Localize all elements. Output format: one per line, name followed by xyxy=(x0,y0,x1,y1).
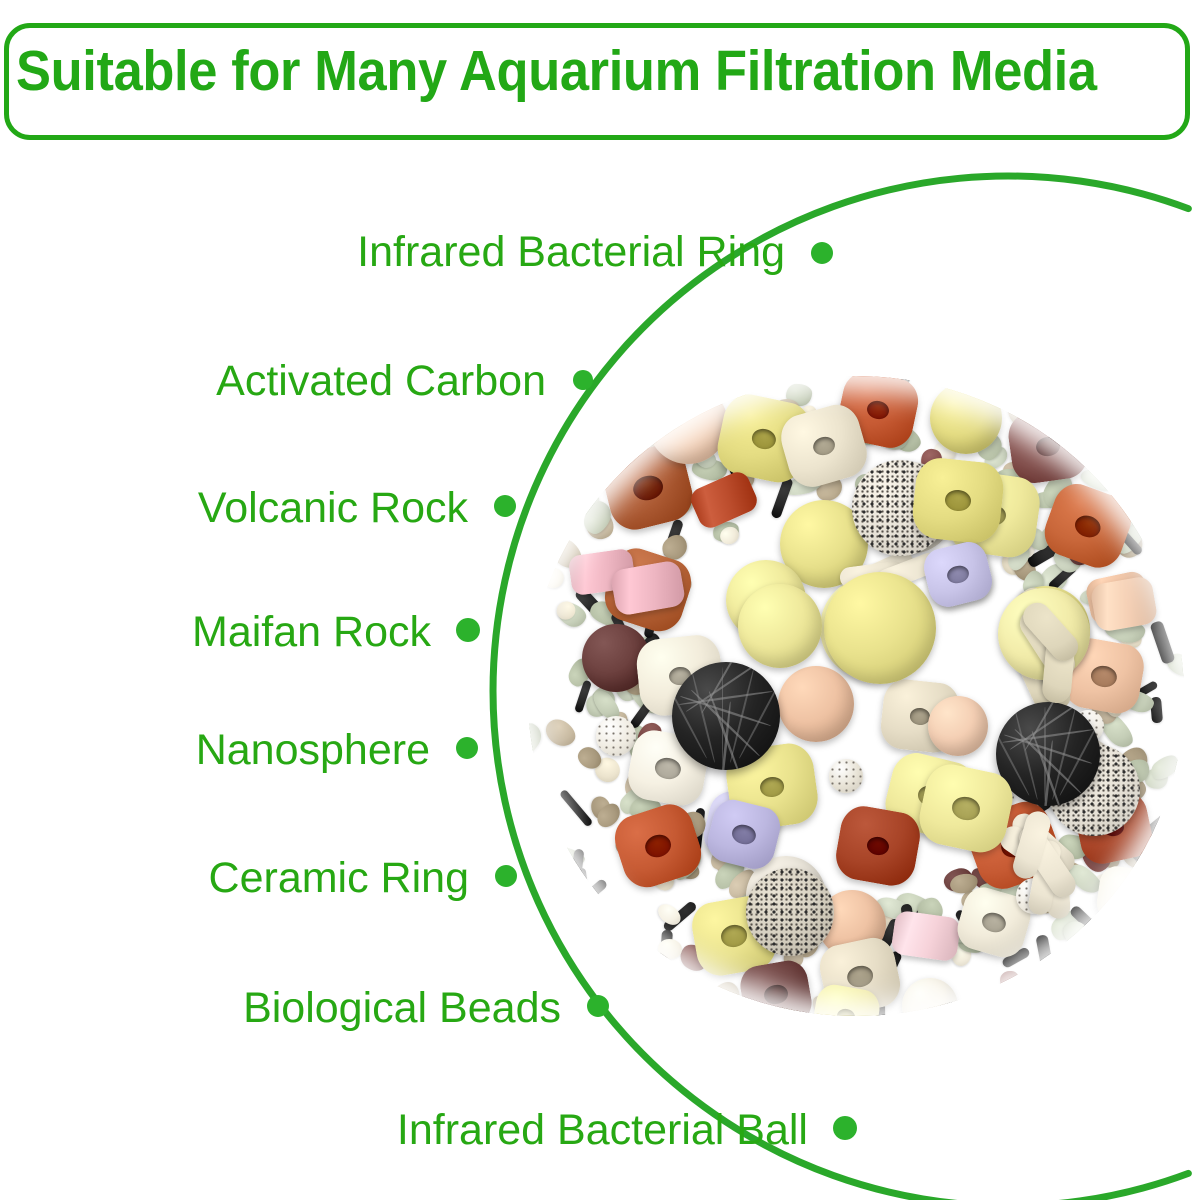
callout-dot xyxy=(573,370,593,390)
callout-dot xyxy=(494,495,516,517)
green-arc xyxy=(493,176,1188,1200)
callout-dot xyxy=(811,242,833,264)
callout-dot xyxy=(833,1116,857,1140)
callout-label: Volcanic Rock xyxy=(198,485,468,531)
infographic-canvas: Suitable for Many Aquarium Filtration Me… xyxy=(0,0,1200,1200)
callout-label: Infrared Bacterial Ring xyxy=(357,229,785,275)
callout-dot xyxy=(495,865,517,887)
callout-dot xyxy=(456,737,478,759)
callout-label: Infrared Bacterial Ball xyxy=(397,1107,808,1153)
callout-label: Nanosphere xyxy=(196,727,430,773)
callout-dot xyxy=(587,995,609,1017)
callout-label: Activated Carbon xyxy=(216,358,546,404)
callout-arc-layer xyxy=(0,0,1200,1200)
callout-dot xyxy=(456,618,480,642)
callout-label: Ceramic Ring xyxy=(209,855,469,901)
callout-label: Biological Beads xyxy=(243,985,561,1031)
callout-label: Maifan Rock xyxy=(192,609,431,655)
